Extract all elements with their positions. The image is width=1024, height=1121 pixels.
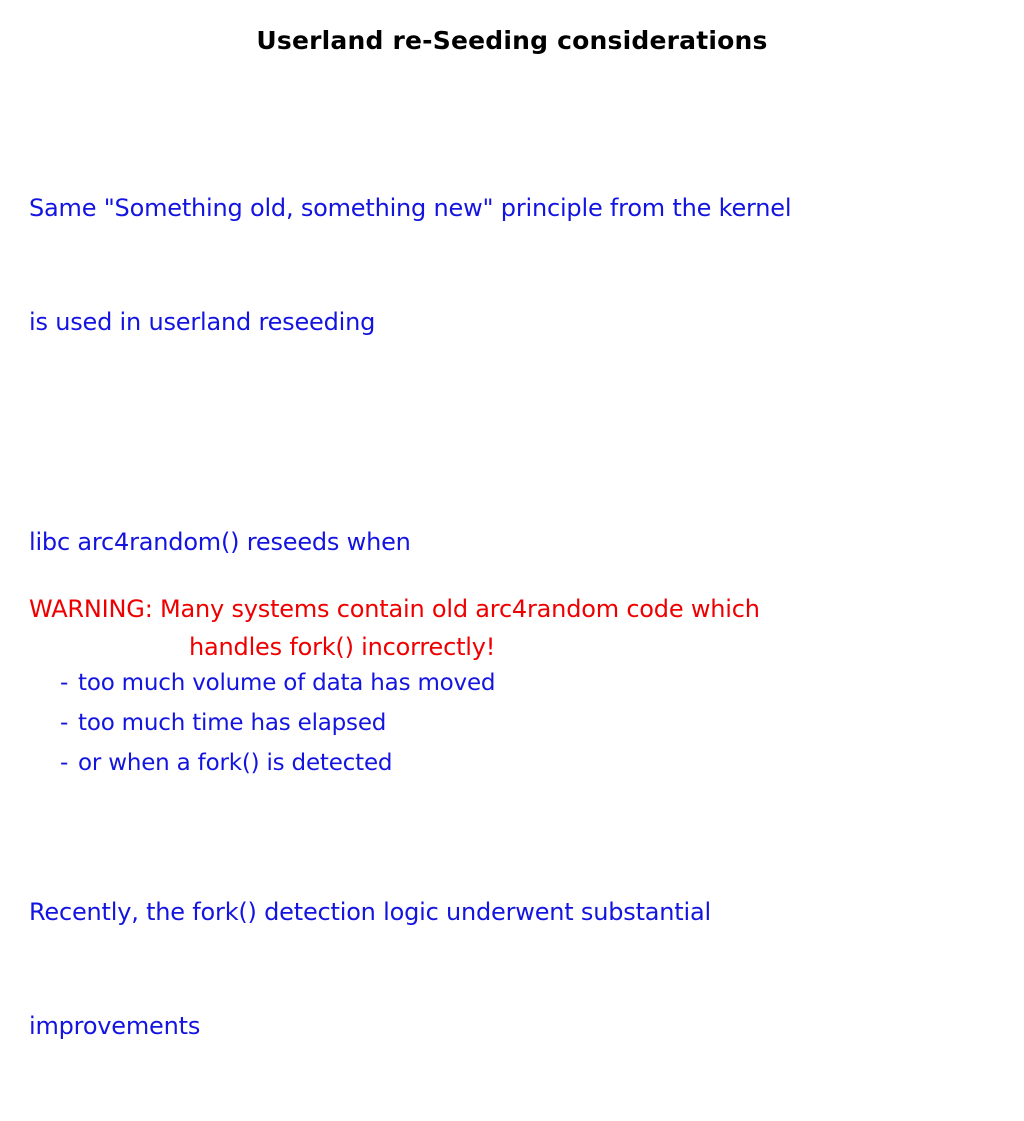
page-title: Userland re-Seeding considerations: [0, 26, 1024, 55]
warning-line-1: WARNING: Many systems contain old arc4ra…: [29, 590, 989, 628]
list-item: -or when a fork() is detected: [60, 743, 989, 783]
paragraph-improvements-line-2: improvements: [29, 1007, 989, 1045]
bullet-dash-icon: -: [60, 703, 78, 743]
warning-block: WARNING: Many systems contain old arc4ra…: [29, 590, 989, 666]
bullet-dash-icon: -: [60, 743, 78, 783]
list-item-label: too much time has elapsed: [78, 710, 386, 736]
list-item-label: too much volume of data has moved: [78, 670, 495, 696]
spacer: [29, 783, 989, 817]
paragraph-principle-line-2: is used in userland reseeding: [29, 303, 989, 341]
reseed-conditions-list: -too much volume of data has moved -too …: [60, 663, 989, 783]
slide-canvas: Userland re-Seeding considerations Same …: [0, 0, 1024, 768]
paragraph-principle: Same "Something old, something new" prin…: [29, 113, 989, 417]
paragraph-principle-line-1: Same "Something old, something new" prin…: [29, 189, 989, 227]
list-item: -too much volume of data has moved: [60, 663, 989, 703]
paragraph-improvements: Recently, the fork() detection logic und…: [29, 817, 989, 1121]
spacer: [29, 417, 989, 447]
paragraph-reseed-intro-line-1: libc arc4random() reseeds when: [29, 523, 989, 561]
warning-line-2: handles fork() incorrectly!: [29, 628, 989, 666]
bullet-dash-icon: -: [60, 663, 78, 703]
paragraph-improvements-line-1: Recently, the fork() detection logic und…: [29, 893, 989, 931]
list-item: -too much time has elapsed: [60, 703, 989, 743]
list-item-label: or when a fork() is detected: [78, 750, 392, 776]
